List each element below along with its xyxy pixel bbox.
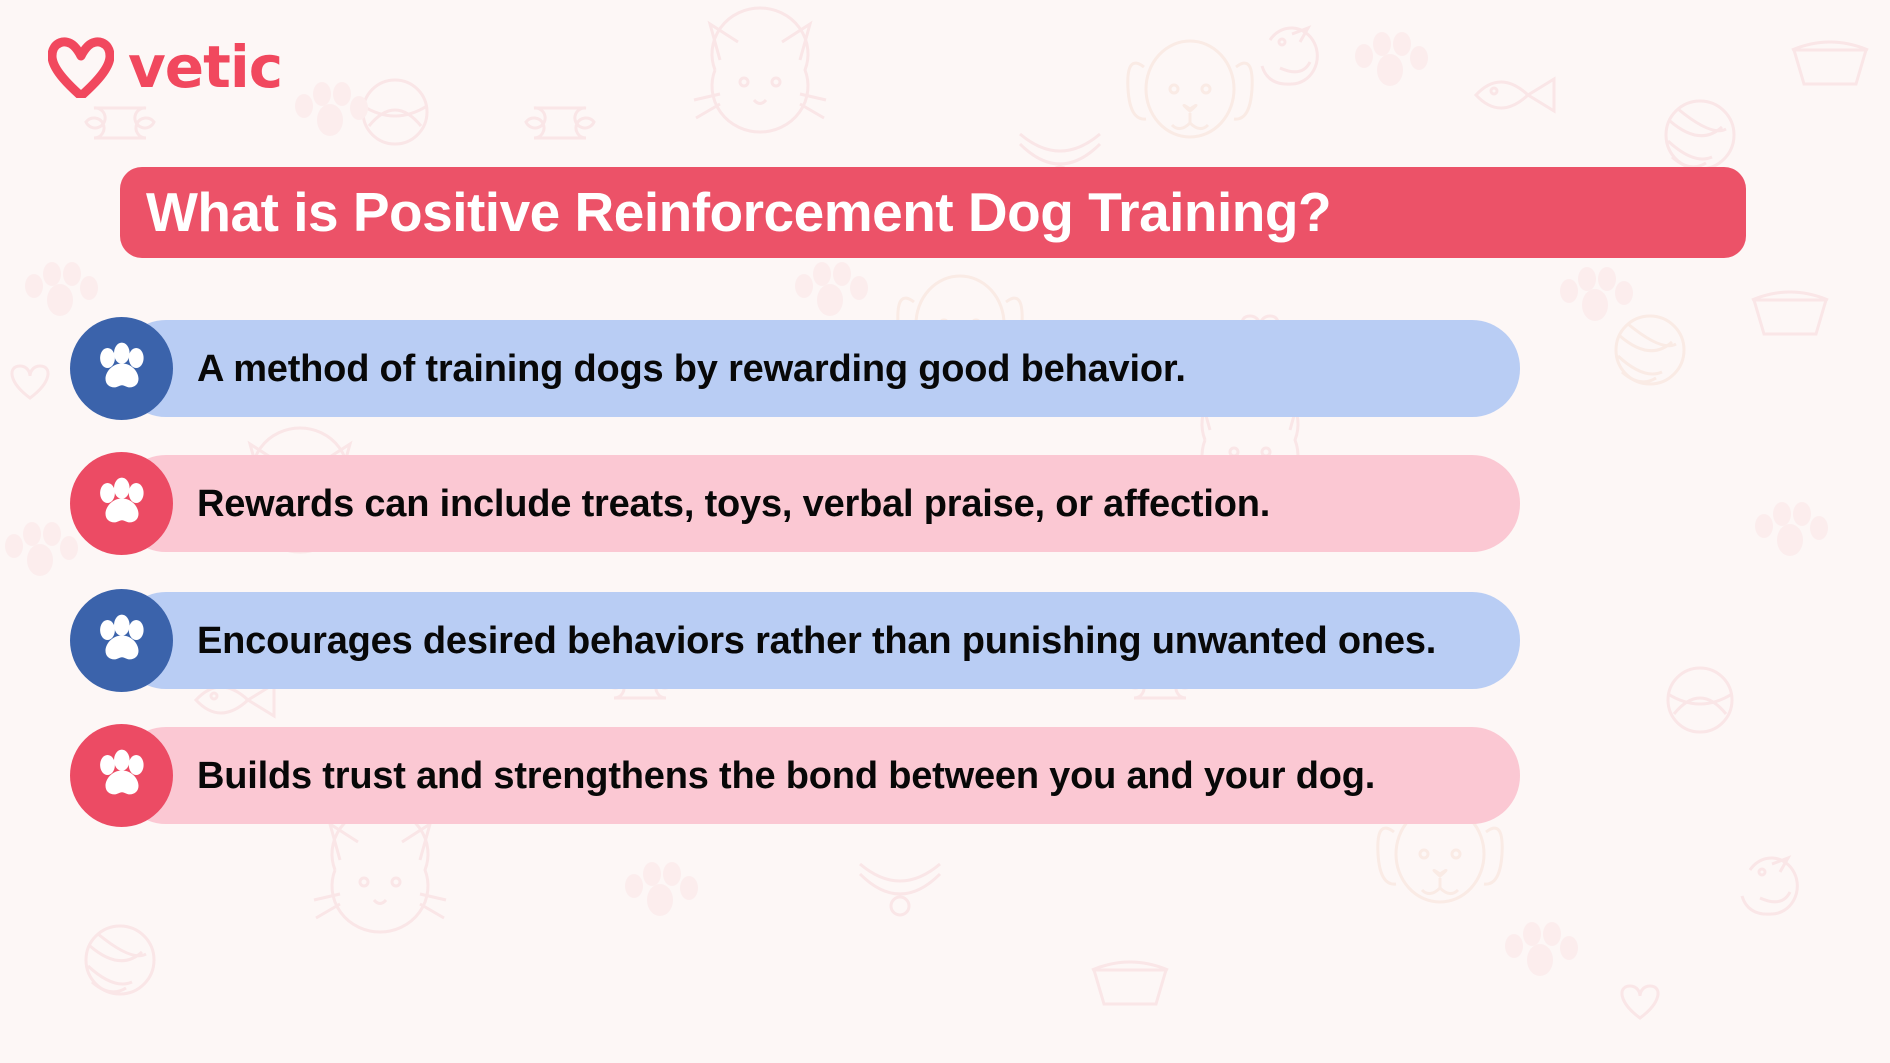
brand-logo[interactable]: vetic — [48, 36, 282, 98]
list-item-label: Encourages desired behaviors rather than… — [197, 622, 1436, 660]
list-item: A method of training dogs by rewarding g… — [118, 320, 1186, 417]
brand-name: vetic — [128, 38, 282, 96]
paw-print-icon — [94, 342, 150, 396]
list-item-label: Builds trust and strengthens the bond be… — [197, 757, 1375, 795]
heart-paw-logo-icon — [48, 36, 114, 98]
list-item: Rewards can include treats, toys, verbal… — [118, 455, 1270, 552]
list-item: Builds trust and strengthens the bond be… — [118, 727, 1375, 824]
page-title: What is Positive Reinforcement Dog Train… — [146, 185, 1331, 240]
paw-badge — [70, 452, 173, 555]
paw-print-icon — [94, 477, 150, 531]
paw-badge — [70, 589, 173, 692]
list-item: Encourages desired behaviors rather than… — [118, 592, 1436, 689]
paw-print-icon — [94, 749, 150, 803]
list-item-label: A method of training dogs by rewarding g… — [197, 350, 1186, 388]
paw-badge — [70, 317, 173, 420]
paw-badge — [70, 724, 173, 827]
paw-print-icon — [94, 614, 150, 668]
page-title-banner: What is Positive Reinforcement Dog Train… — [120, 167, 1746, 258]
list-item-label: Rewards can include treats, toys, verbal… — [197, 485, 1270, 523]
